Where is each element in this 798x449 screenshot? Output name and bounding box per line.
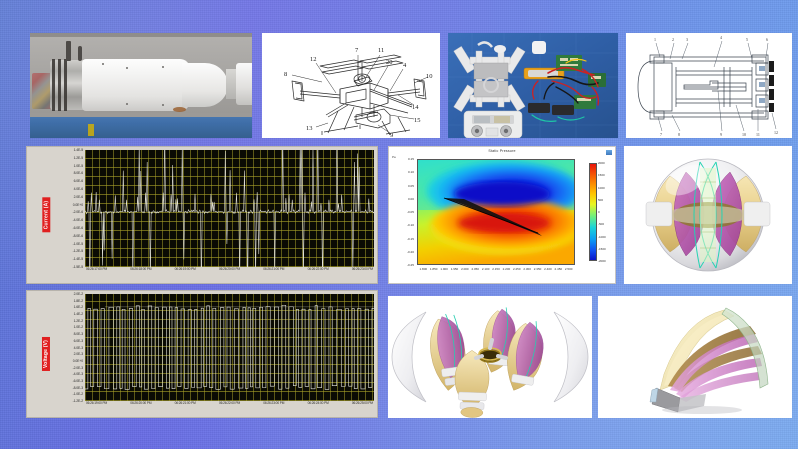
panel-exploded-assembly <box>388 296 592 418</box>
tick-label: 8.0E-6 <box>74 171 83 175</box>
photo-fastener <box>126 67 128 69</box>
tick-label: 1.4E-2 <box>74 312 83 316</box>
tick-label: 1.2E-5 <box>74 156 83 160</box>
current-chart-trace <box>85 150 374 267</box>
patent-ref-15: 15 <box>414 117 421 124</box>
tick-label: -2000 <box>598 259 606 263</box>
tick-label: 2.200 <box>503 267 511 271</box>
svg-text:8: 8 <box>678 132 680 137</box>
svg-text:12: 12 <box>774 130 778 135</box>
patent-ref-11: 11 <box>378 47 384 54</box>
patent-drawing-svg: 7 11 12 20 4 10 8 14 13 15 9 <box>262 33 440 138</box>
tick-label: 2.150 <box>492 267 500 271</box>
panel-cfd-contour-plot: Static Pressure Pa <box>388 146 616 284</box>
photo-ring <box>52 59 55 111</box>
svg-text:1: 1 <box>654 37 656 42</box>
cad-section-svg: 123 456 78 910 1112 <box>626 33 792 138</box>
tick-label: 500 <box>598 198 603 202</box>
tick-label: -1500 <box>598 247 606 251</box>
tick-label: -1.4E-5 <box>73 257 83 261</box>
tick-label: 2.100 <box>482 267 490 271</box>
tick-label: -4.0E-3 <box>73 372 83 376</box>
tick-label: 1.4E-5 <box>74 148 83 152</box>
tick-label: -1.0E-5 <box>73 242 83 246</box>
tick-label: -1.2E-2 <box>73 399 83 403</box>
cfd-logo-icon <box>606 150 612 155</box>
tick-label: 2000 <box>598 161 605 165</box>
photo-bench-mark <box>173 107 186 112</box>
tick-label: 4.0E-6 <box>74 187 83 191</box>
tick-label: 06:26:24:00 PM <box>308 401 329 405</box>
svg-text:7: 7 <box>660 132 662 137</box>
tick-label: 1500 <box>598 173 605 177</box>
tick-label: 1.900 <box>440 267 448 271</box>
panel-current-scope-chart: Current (A) 1.4E-51.2E-51.0E-58.0E-66.0E… <box>26 146 378 284</box>
svg-text:2: 2 <box>672 37 674 42</box>
tick-label: 06:26:21:00 PM <box>175 401 196 405</box>
tick-label: -6.0E-6 <box>73 226 83 230</box>
patent-ref-7: 7 <box>355 47 359 54</box>
tick-label: 0.15 <box>408 157 414 161</box>
tick-label: 1.800 <box>420 267 428 271</box>
current-chart-plot <box>85 150 374 267</box>
tick-label: -2.0E-6 <box>73 210 83 214</box>
tick-label: 0.0E+0 <box>73 359 83 363</box>
patent-ref-4: 4 <box>403 62 407 69</box>
tick-label: 2.250 <box>513 267 521 271</box>
panel-cad-section-drawing: 123 456 78 910 1112 <box>626 33 792 138</box>
patent-ref-14: 14 <box>412 104 419 111</box>
tick-label: -1.0E-2 <box>73 392 83 396</box>
photo-bench <box>30 113 252 138</box>
tick-label: 4.0E-3 <box>74 346 83 350</box>
panel-patent-drawing: 7 11 12 20 4 10 8 14 13 15 9 <box>262 33 440 138</box>
photo-fuselage <box>82 59 190 111</box>
svg-text:9: 9 <box>720 132 722 137</box>
current-chart-yticks: 1.4E-51.2E-51.0E-58.0E-66.0E-64.0E-62.0E… <box>38 150 84 267</box>
patent-ref-9: 9 <box>390 132 393 138</box>
tick-label: 0.05 <box>408 184 414 188</box>
tick-label: -8.0E-6 <box>73 234 83 238</box>
tick-label: 06:26:18:00 PM <box>130 267 151 271</box>
patent-ref-12: 12 <box>310 56 317 63</box>
voltage-chart-xticks: 06:26:19:00 PM06:26:20:00 PM06:26:21:00 … <box>85 401 374 415</box>
tick-label: 2.400 <box>544 267 552 271</box>
tick-label: -4.0E-6 <box>73 218 83 222</box>
electronics-photo-svg <box>448 33 618 138</box>
svg-text:3: 3 <box>686 37 688 42</box>
photo-ring <box>58 59 61 111</box>
voltage-chart-yticks: 2.0E-21.8E-21.6E-21.4E-21.2E-21.0E-28.0E… <box>38 294 84 401</box>
panel-electronics-photo <box>448 33 618 138</box>
photo-antenna <box>66 41 71 61</box>
svg-text:10: 10 <box>742 132 746 137</box>
panel-sphere-cad-render <box>624 146 792 284</box>
photo-fastener <box>162 104 164 106</box>
tick-label: 1.850 <box>430 267 438 271</box>
cfd-field-svg <box>418 160 575 265</box>
photo-nose-cone <box>182 63 228 107</box>
exploded-assembly-svg <box>388 296 592 418</box>
patent-ref-8: 8 <box>284 71 287 78</box>
photo-fastener <box>102 63 104 65</box>
tick-label: -6.0E-3 <box>73 379 83 383</box>
tick-label: 06:26:20:00 PM <box>219 267 240 271</box>
tick-label: 2.300 <box>523 267 531 271</box>
voltage-chart-plot <box>85 294 374 401</box>
tick-label: 8.0E-3 <box>74 332 83 336</box>
current-chart-xticks: 06:26:17:00 PM06:26:18:00 PM06:26:19:00 … <box>85 267 374 281</box>
tick-label: -8.0E-3 <box>73 386 83 390</box>
photo-ring <box>64 59 67 111</box>
photo-metal-section <box>50 60 86 110</box>
svg-text:5: 5 <box>746 37 748 42</box>
photo-antenna <box>78 46 82 61</box>
tick-label: 06:26:23:00 PM <box>352 267 373 271</box>
panel-voltage-scope-chart: Voltage (V) 2.0E-21.8E-21.6E-21.4E-21.2E… <box>26 290 378 418</box>
tick-label: 06:26:19:00 PM <box>86 401 107 405</box>
tick-label: -1000 <box>598 235 606 239</box>
cfd-plot-area <box>417 159 575 265</box>
tick-label: 2.0E-6 <box>74 195 83 199</box>
tick-label: 1.6E-2 <box>74 305 83 309</box>
svg-text:11: 11 <box>756 132 760 137</box>
tick-label: 6.0E-3 <box>74 339 83 343</box>
photo-fastener <box>126 103 128 105</box>
tick-label: -0.10 <box>407 223 414 227</box>
tick-label: 6.0E-6 <box>74 179 83 183</box>
tick-label: -0.15 <box>407 237 414 241</box>
cfd-xticks: 1.8001.8501.9001.9502.0002.0502.1002.150… <box>417 267 575 277</box>
photo-fastener <box>162 66 164 68</box>
tick-label: 1.0E-2 <box>74 325 83 329</box>
tick-label: -0.05 <box>407 210 414 214</box>
tick-label: -0.20 <box>407 250 414 254</box>
tick-label: 06:26:17:00 PM <box>86 267 107 271</box>
sphere-cad-svg <box>624 146 792 284</box>
tick-label: -0.25 <box>407 263 414 267</box>
tick-label: 06:26:25:00 PM <box>352 401 373 405</box>
patent-ref-20: 20 <box>386 59 393 66</box>
tick-label: 2.0E-2 <box>74 292 83 296</box>
cfd-colorbar-ticks: 2000150010005000-500-1000-1500-2000 <box>598 163 613 261</box>
cfd-colorbar <box>589 163 597 261</box>
tick-label: 1.2E-2 <box>74 319 83 323</box>
tick-label: -2.0E-3 <box>73 366 83 370</box>
cfd-title: Static Pressure <box>389 149 615 153</box>
tick-label: -1.2E-5 <box>73 249 83 253</box>
fan-petal-svg <box>598 296 792 418</box>
tick-label: 1000 <box>598 186 605 190</box>
patent-ref-13: 13 <box>306 125 313 132</box>
tick-label: 0.0E+0 <box>73 203 83 207</box>
tick-label: 2.350 <box>534 267 542 271</box>
photo-clamp <box>88 124 94 136</box>
tick-label: -1.5E-5 <box>73 265 83 269</box>
tick-label: 2.450 <box>555 267 563 271</box>
svg-text:4: 4 <box>720 35 722 40</box>
panel-fan-petal-render <box>598 296 792 418</box>
tick-label: 06:26:22:00 PM <box>219 401 240 405</box>
tick-label: 2.000 <box>461 267 469 271</box>
cfd-yticks: 0.150.100.050.00-0.05-0.10-0.15-0.20-0.2… <box>392 159 415 265</box>
tick-label: 0 <box>598 210 600 214</box>
tick-label: 2.0E-3 <box>74 352 83 356</box>
tick-label: 06:26:20:00 PM <box>130 401 151 405</box>
tick-label: 06:26:21:00 PM <box>263 267 284 271</box>
tick-label: 06:26:23:00 PM <box>263 401 284 405</box>
tick-label: 2.050 <box>471 267 479 271</box>
tick-label: 0.00 <box>408 197 414 201</box>
tick-label: 1.950 <box>451 267 459 271</box>
tick-label: 06:26:19:00 PM <box>175 267 196 271</box>
tick-label: 06:26:22:00 PM <box>308 267 329 271</box>
svg-text:6: 6 <box>766 37 768 42</box>
tick-label: 1.0E-5 <box>74 164 83 168</box>
tick-label: 0.10 <box>408 170 414 174</box>
tick-label: 1.8E-2 <box>74 299 83 303</box>
voltage-chart-trace <box>85 294 374 401</box>
tick-label: 2.500 <box>565 267 573 271</box>
tick-label: -500 <box>598 222 604 226</box>
patent-ref-10: 10 <box>426 73 433 80</box>
photo-tail-cap <box>236 63 252 105</box>
panel-prototype-photo <box>30 33 252 138</box>
